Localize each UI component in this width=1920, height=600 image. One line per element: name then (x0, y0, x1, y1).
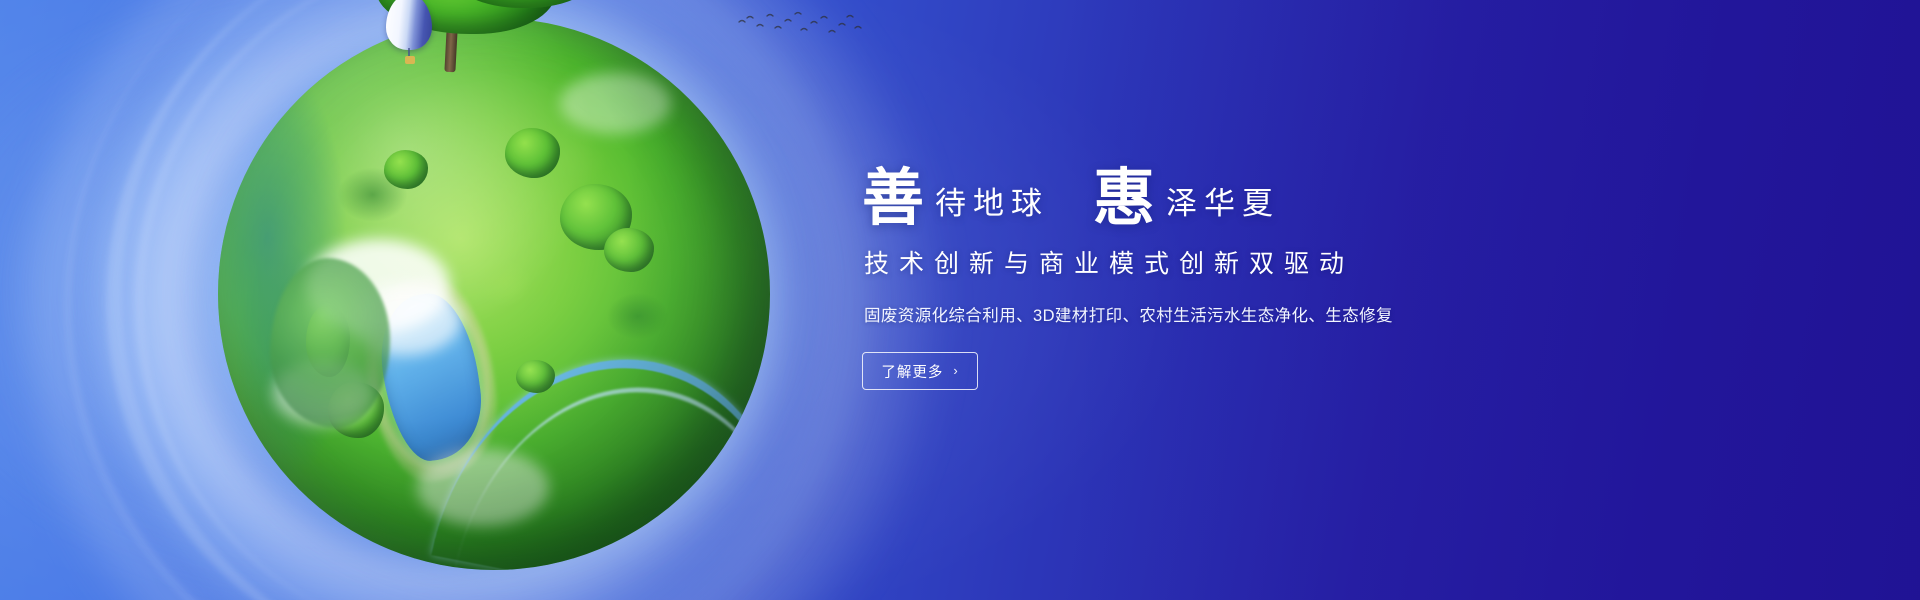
chevron-right-icon: › (953, 363, 958, 378)
hero-copy-block: 善 待地球 惠 泽华夏 技术创新与商业模式创新双驱动 固废资源化综合利用、3D建… (862, 136, 1482, 390)
headline-part2-primary: 惠 (1093, 169, 1156, 228)
learn-more-label: 了解更多 (881, 361, 943, 382)
headline-part2-secondary: 泽华夏 (1156, 189, 1280, 228)
learn-more-button[interactable]: 了解更多 › (862, 352, 978, 390)
service-description: 固废资源化综合利用、3D建材打印、农村生活污水生态净化、生态修复 (864, 302, 1482, 326)
hero-banner: 善 待地球 惠 泽华夏 技术创新与商业模式创新双驱动 固废资源化综合利用、3D建… (0, 0, 1920, 600)
headline-subtitle: 技术创新与商业模式创新双驱动 (864, 244, 1482, 280)
headline-part1-secondary: 待地球 (925, 189, 1049, 228)
headline-part1-primary: 善 (862, 169, 925, 228)
page-title: 善 待地球 惠 泽华夏 (862, 136, 1482, 228)
